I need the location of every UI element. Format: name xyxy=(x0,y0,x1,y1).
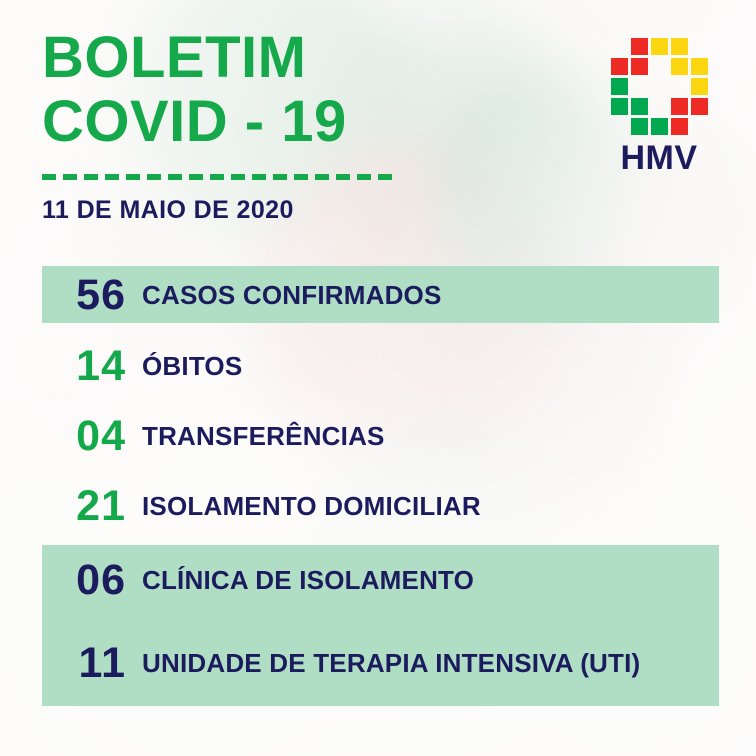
stat-label: CLÍNICA DE ISOLAMENTO xyxy=(142,566,474,594)
stat-label: ISOLAMENTO DOMICILIAR xyxy=(142,492,481,520)
stat-value: 04 xyxy=(42,413,126,459)
stat-row: 21ISOLAMENTO DOMICILIAR xyxy=(42,478,719,534)
covid-bulletin-poster: BOLETIM COVID - 19 11 DE MAIO DE 2020 HM… xyxy=(0,0,756,756)
stat-label: TRANSFERÊNCIAS xyxy=(142,422,385,450)
stat-value: 56 xyxy=(42,272,126,318)
stat-value: 11 xyxy=(42,640,126,686)
stat-row: 04TRANSFERÊNCIAS xyxy=(42,408,719,464)
stat-row: 11UNIDADE DE TERAPIA INTENSIVA (UTI) xyxy=(42,635,719,691)
stat-value: 14 xyxy=(42,343,126,389)
statistics-list: 56CASOS CONFIRMADOS14ÓBITOS04TRANSFERÊNC… xyxy=(0,0,756,756)
stat-row: 56CASOS CONFIRMADOS xyxy=(42,267,719,323)
stat-label: CASOS CONFIRMADOS xyxy=(142,281,442,309)
stat-row: 06CLÍNICA DE ISOLAMENTO xyxy=(42,552,719,608)
stat-value: 21 xyxy=(42,483,126,529)
stat-value: 06 xyxy=(42,557,126,603)
stat-label: ÓBITOS xyxy=(142,352,242,380)
stat-label: UNIDADE DE TERAPIA INTENSIVA (UTI) xyxy=(142,649,640,677)
stat-row: 14ÓBITOS xyxy=(42,338,719,394)
